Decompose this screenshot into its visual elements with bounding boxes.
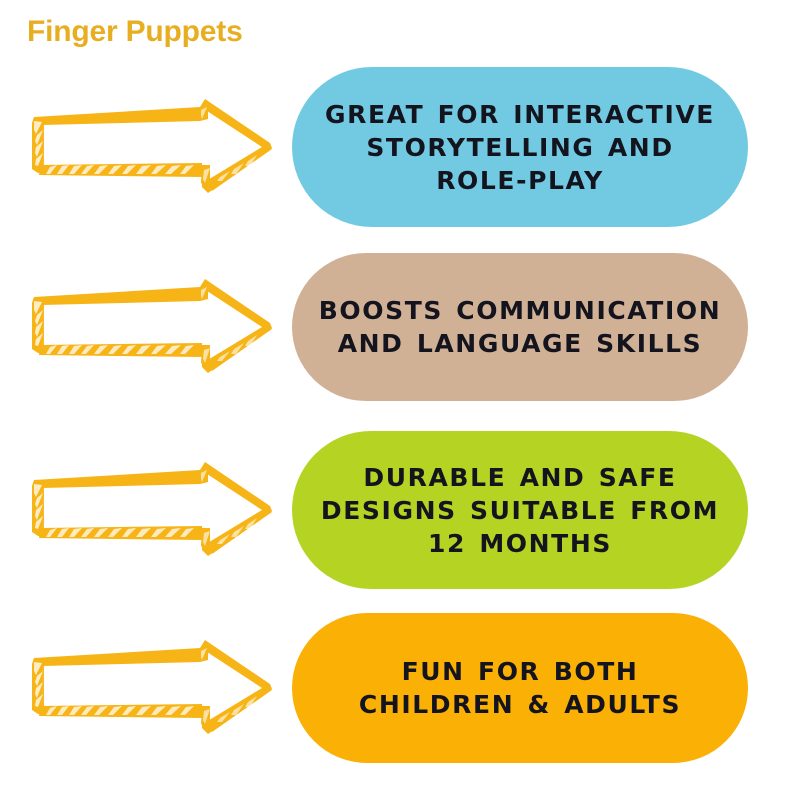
benefit-pill[interactable]: Boosts communication and language skills [292, 253, 748, 401]
benefit-row: Fun for both children & adults [0, 613, 800, 763]
right-arrow-sketch-icon [24, 275, 274, 379]
benefit-pill[interactable]: Durable and safe designs suitable from 1… [292, 431, 748, 589]
right-arrow-sketch-icon [24, 636, 274, 740]
right-arrow-sketch-icon [24, 95, 274, 199]
benefit-row: Boosts communication and language skills [0, 253, 800, 401]
benefit-row: Great for interactive storytelling and r… [0, 67, 800, 227]
benefit-text: Boosts communication and language skills [318, 294, 722, 360]
benefit-pill[interactable]: Great for interactive storytelling and r… [292, 67, 748, 227]
benefit-row: Durable and safe designs suitable from 1… [0, 431, 800, 589]
benefit-text: Durable and safe designs suitable from 1… [318, 461, 722, 560]
infographic-canvas: Finger Puppets [0, 0, 800, 800]
benefit-text: Fun for both children & adults [318, 655, 722, 721]
benefit-pill[interactable]: Fun for both children & adults [292, 613, 748, 763]
right-arrow-sketch-icon [24, 458, 274, 562]
benefit-text: Great for interactive storytelling and r… [318, 98, 722, 197]
page-title: Finger Puppets [27, 12, 243, 52]
